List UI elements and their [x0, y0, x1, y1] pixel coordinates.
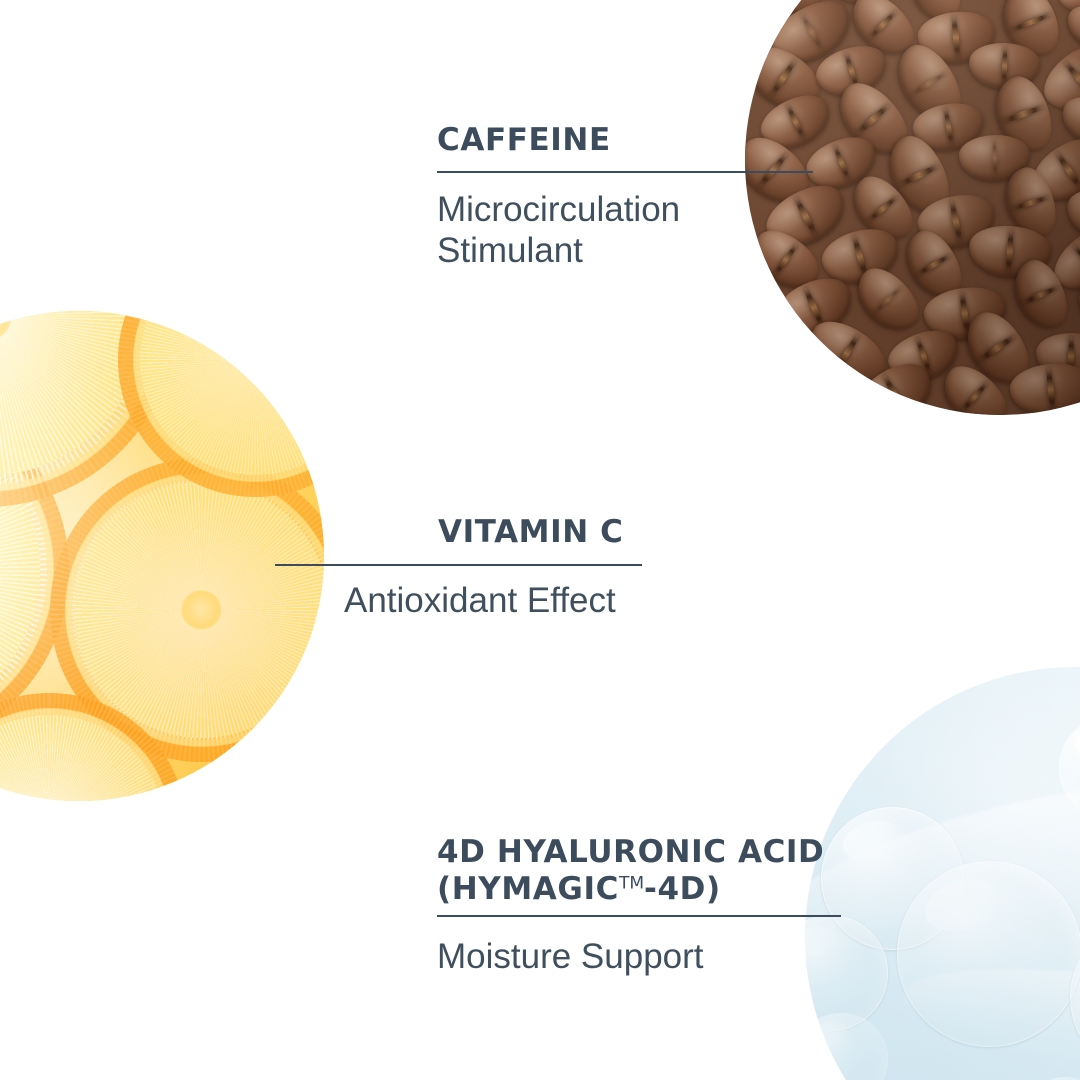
divider-hyaluronic-acid: [437, 915, 841, 917]
benefit-line-1: Microcirculation: [437, 190, 680, 231]
benefit-line-1: Antioxidant Effect: [344, 581, 616, 622]
hyaluronic-brand-open: (HYMAGIC: [437, 871, 619, 907]
trademark-symbol: TM: [619, 873, 644, 893]
ingredient-name-vitamin-c: VITAMIN C: [438, 514, 624, 551]
divider-caffeine: [437, 171, 813, 173]
coffee-beans-image: [745, 0, 1080, 415]
water-bubbles-image: [805, 667, 1080, 1080]
orange-slices-image: [0, 311, 324, 801]
ingredient-name-caffeine: CAFFEINE: [437, 122, 611, 159]
ingredient-benefit-vitamin-c: Antioxidant Effect: [344, 581, 616, 622]
ingredient-infographic: CAFFEINE Microcirculation Stimulant VITA…: [0, 0, 1080, 1080]
benefit-line-1: Moisture Support: [437, 937, 704, 978]
ingredient-benefit-hyaluronic-acid: Moisture Support: [437, 937, 704, 978]
bubble: [805, 1013, 888, 1080]
ingredient-hyaluronic-acid: 4D HYALURONIC ACID (HYMAGICTM-4D): [437, 834, 824, 907]
ingredient-name-hyaluronic-line-2: (HYMAGICTM-4D): [437, 871, 824, 908]
hyaluronic-brand-close: -4D): [644, 871, 721, 907]
ingredient-benefit-caffeine: Microcirculation Stimulant: [437, 190, 680, 272]
bubble: [897, 861, 1080, 1047]
benefit-line-2: Stimulant: [437, 231, 680, 272]
ingredient-caffeine: CAFFEINE: [437, 122, 611, 159]
ingredient-vitamin-c: VITAMIN C: [438, 514, 624, 551]
divider-vitamin-c: [275, 564, 642, 566]
ingredient-name-hyaluronic-line-1: 4D HYALURONIC ACID: [437, 834, 824, 871]
